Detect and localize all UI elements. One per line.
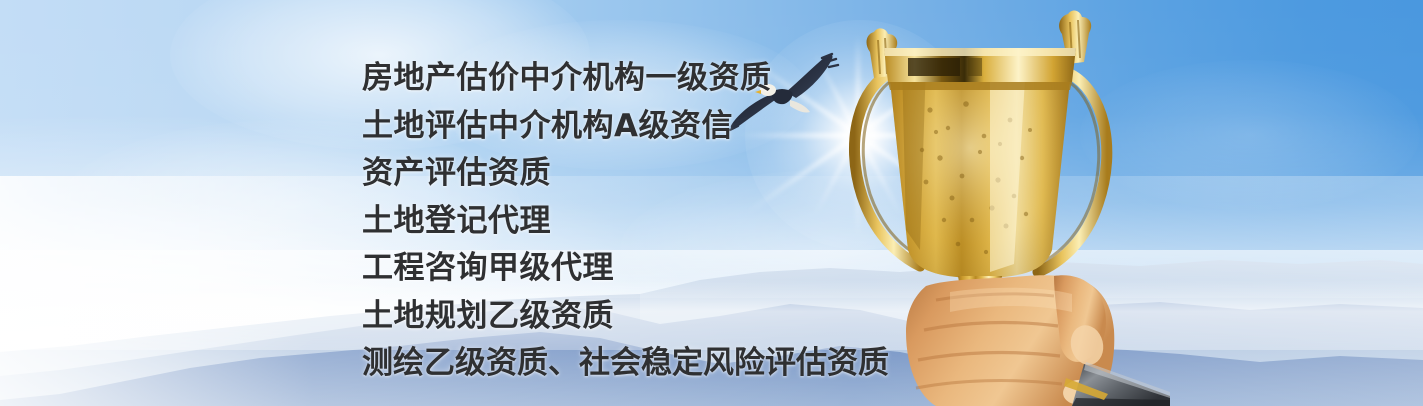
headline-line: 工程咨询甲级代理	[362, 245, 922, 293]
headline-line: 房地产估价中介机构一级资质	[362, 55, 922, 103]
headline-line: 土地规划乙级资质	[362, 293, 922, 341]
headline-line: 资产评估资质	[362, 150, 922, 198]
headline-line: 土地评估中介机构A级资信	[362, 103, 922, 151]
headline-line: 测绘乙级资质、社会稳定风险评估资质	[362, 340, 922, 388]
qualifications-banner: 房地产估价中介机构一级资质 土地评估中介机构A级资信 资产评估资质 土地登记代理…	[0, 0, 1423, 406]
headline-line: 土地登记代理	[362, 198, 922, 246]
qualification-headline-list: 房地产估价中介机构一级资质 土地评估中介机构A级资信 资产评估资质 土地登记代理…	[362, 55, 922, 388]
